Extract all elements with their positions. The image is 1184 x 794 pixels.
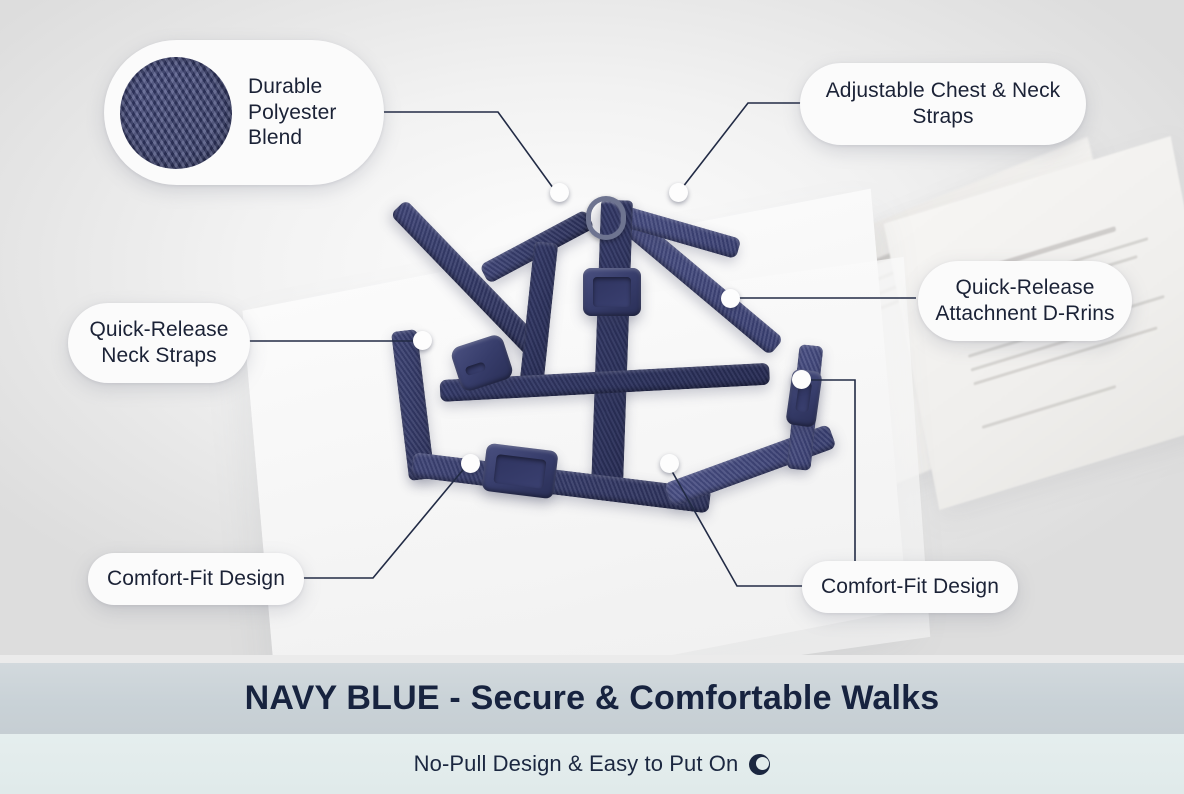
callout-label: Adjustable Chest & Neck Straps	[818, 78, 1068, 129]
harness-d-ring	[586, 196, 626, 240]
callout-comfort-fit-design-left[interactable]: Comfort-Fit Design	[88, 553, 304, 605]
hotspot-comfort-fit-right	[660, 454, 679, 473]
callout-label: Quick-Release Attachnent D-Rrins	[930, 275, 1120, 326]
harness-chest-slider-buckle	[583, 268, 641, 316]
callout-quick-release-attachment-d-rings[interactable]: Quick-Release Attachnent D-Rrins	[918, 261, 1132, 341]
fabric-swatch-icon	[120, 57, 232, 169]
callout-label: Durable Polyester Blend	[248, 74, 336, 151]
moon-icon	[749, 754, 770, 775]
hotspot-durable-polyester	[550, 183, 569, 202]
hotspot-adjustable-straps	[669, 183, 688, 202]
hotspot-comfort-fit-left	[461, 454, 480, 473]
banner-subtitle-band: No-Pull Design & Easy to Put On	[0, 734, 1184, 794]
callout-quick-release-neck-straps[interactable]: Quick-Release Neck Straps	[68, 303, 250, 383]
callout-label: Comfort-Fit Design	[816, 574, 1004, 600]
harness-girth-slider-buckle	[481, 443, 558, 499]
banner-title: NAVY BLUE - Secure & Comfortable Walks	[245, 679, 940, 718]
banner-subtitle: No-Pull Design & Easy to Put On	[414, 751, 739, 777]
hotspot-quick-release-neck	[413, 331, 432, 350]
product-photo-scene: Durable Polyester Blend Adjustable Chest…	[0, 0, 1184, 663]
hotspot-side-buckle	[792, 370, 811, 389]
harness-center-chest-strap	[591, 200, 633, 491]
callout-durable-polyester-blend[interactable]: Durable Polyester Blend	[104, 40, 384, 185]
banner-title-band: NAVY BLUE - Secure & Comfortable Walks	[0, 663, 1184, 734]
callout-label: Comfort-Fit Design	[102, 566, 290, 592]
callout-adjustable-chest-neck-straps[interactable]: Adjustable Chest & Neck Straps	[800, 63, 1086, 145]
callout-comfort-fit-design-right[interactable]: Comfort-Fit Design	[802, 561, 1018, 613]
hotspot-attachment-d-rings	[721, 289, 740, 308]
callout-label: Quick-Release Neck Straps	[82, 317, 236, 368]
infographic-canvas: Durable Polyester Blend Adjustable Chest…	[0, 0, 1184, 794]
